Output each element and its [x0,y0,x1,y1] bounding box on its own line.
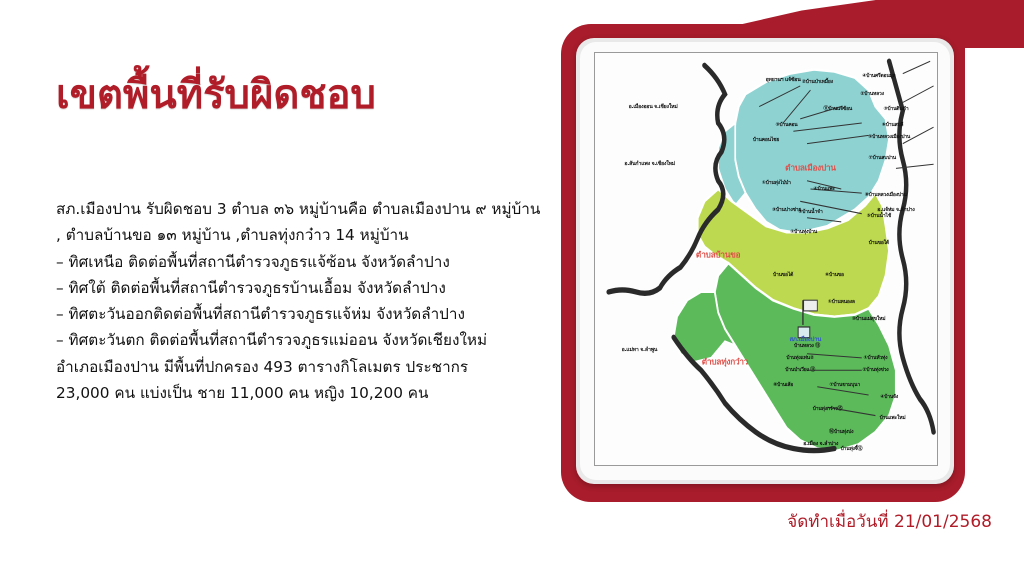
map-tambon-label: ตำบลเมืองปาน [785,162,836,175]
map-village-label: บ้านคอนไชย [753,136,779,144]
map-artwork: ตำบลเมืองปาน ตำบลบ้านขอ ตำบลทุ่งกว๋าว สภ… [595,53,937,465]
map-village-label: บ้านทุ่งแท่น② [786,354,814,362]
map-village-label: ①บ้านทุ่งบ้าน [790,228,817,236]
map-village-label: ①บ้านหัวทุ่ง [864,354,888,362]
map-village-label: ⑥บ้านขอ [825,271,844,279]
map-village-label: ③บ้านดินดำ [883,105,908,113]
map-village-label: ①บ้านหนองล [828,298,855,306]
footer-date: จัดทำเมื่อวันที่ 21/01/2568 [787,508,992,535]
map-village-label: บ้านทุ่งจี้⑫ [841,445,863,453]
map-village-label: ①บ้านทุ่งไป่ป่า [762,179,791,187]
body-line: – ทิศตะวันตก ติดต่อพื้นที่สถานีตำรวจภูธร… [56,327,556,353]
map-village-label: ④บ้านจัง [880,393,898,401]
map-village-label: ③บ้านน้ำจำ [798,208,822,216]
body-line: สภ.เมืองปาน รับผิดชอบ 3 ตำบล ๓๖ หมู่บ้าน… [56,196,556,222]
map-village-label: ④บ้านแพะ [813,185,834,193]
map-village-label: ⑤บ้านน้ำไช้ [867,212,891,220]
map-village-label: บ้านทุ่งกว๋าว⑮ [813,405,843,413]
map-village-label: ②บ้านหลวง [860,90,884,98]
map-district-label: อ.เมือง จ.ลำปาง [803,440,838,448]
map-village-label: ⑥บ้านสบลี [882,121,904,129]
map-village-label: บ้านขอได้ [773,271,793,279]
page-title: เขตพื้นที่รับผิดชอบ [56,71,376,119]
map-village-label: บ้านขอใต้ [869,239,889,247]
map-village-label: ⑧บ้านเส้อ [773,381,793,389]
map-village-label: ⑯บ้านทุ่งปง [829,428,853,436]
map-village-label: ⑨บ้านหลวงเมืองปาน [868,133,910,141]
body-paragraph: สภ.เมืองปาน รับผิดชอบ 3 ตำบล ๓๖ หมู่บ้าน… [56,196,556,406]
map-village-label: บ้านหลวง ⑬ [794,342,820,350]
map-village-label: ②บ้านป่าเหมี้ยง [802,78,833,86]
map-image-frame: ตำบลเมืองปาน ตำบลบ้านขอ ตำบลทุ่งกว๋าว สภ… [594,52,938,466]
map-svg [595,53,937,465]
map-tambon-label: ตำบลทุ่งกว๋าว [702,356,748,369]
map-village-label: บ้านป่าเวียง ⑪ [785,366,815,374]
body-line: อำเภอเมืองปาน มีพื้นที่ปกครอง 493 ตารางก… [56,354,556,380]
body-line: 23,000 คน แบ่งเป็น ชาย 11,000 คน หญิง 10… [56,380,556,406]
map-village-label: ⑩บ้านแม่สุขใหม่ [852,315,885,323]
map-village-label: บ้านแพะใหม่ [880,414,906,422]
map-district-label: อุทยานฯ แจ้ซ้อน [766,76,801,84]
map-district-label: อ.เมืองออน จ.เชียงใหม่ [629,103,678,111]
body-line: – ทิศใต้ ติดต่อพื้นที่สถานีตำรวจภูธรบ้าน… [56,275,556,301]
body-line: , ตำบลบ้านขอ ๑๓ หมู่บ้าน ,ตำบลทุ่งกว๋าว … [56,222,556,248]
map-village-label: ⑦บ้านขามบุนา [829,381,860,389]
map-village-label: ⑦บ้านสบปาน [869,154,896,162]
map-village-label: ③บ้านปางช่าย [772,206,801,214]
map-village-label: ⑪บ้านแจ้ซ้อน [824,105,853,113]
map-village-label: ⑧บ้านหลวงเมืองปาน [865,191,907,199]
map-district-label: อ.แม่ทา จ.ลำพูน [622,346,658,354]
map-tambon-label: ตำบลบ้านขอ [696,248,740,261]
map-village-label: ⑨บ้านคอน [776,121,798,129]
map-card[interactable]: ตำบลเมืองปาน ตำบลบ้านขอ ตำบลทุ่งกว๋าว สภ… [580,42,950,480]
body-line: – ทิศเหนือ ติดต่อพื้นที่สถานีตำรวจภูธรแจ… [56,249,556,275]
slide-root: ตำบลเมืองปาน ตำบลบ้านขอ ตำบลทุ่งกว๋าว สภ… [0,0,1024,576]
map-village-label: ②บ้านทุ่งข่วง [862,366,888,374]
body-line: – ทิศตะวันออกติดต่อพื้นที่สถานีตำรวจภูธร… [56,301,556,327]
map-village-label: ④บ้านศรีดอนมูล [862,72,895,80]
map-district-label: อ.สันกำแพง จ.เชียงใหม่ [624,160,675,168]
